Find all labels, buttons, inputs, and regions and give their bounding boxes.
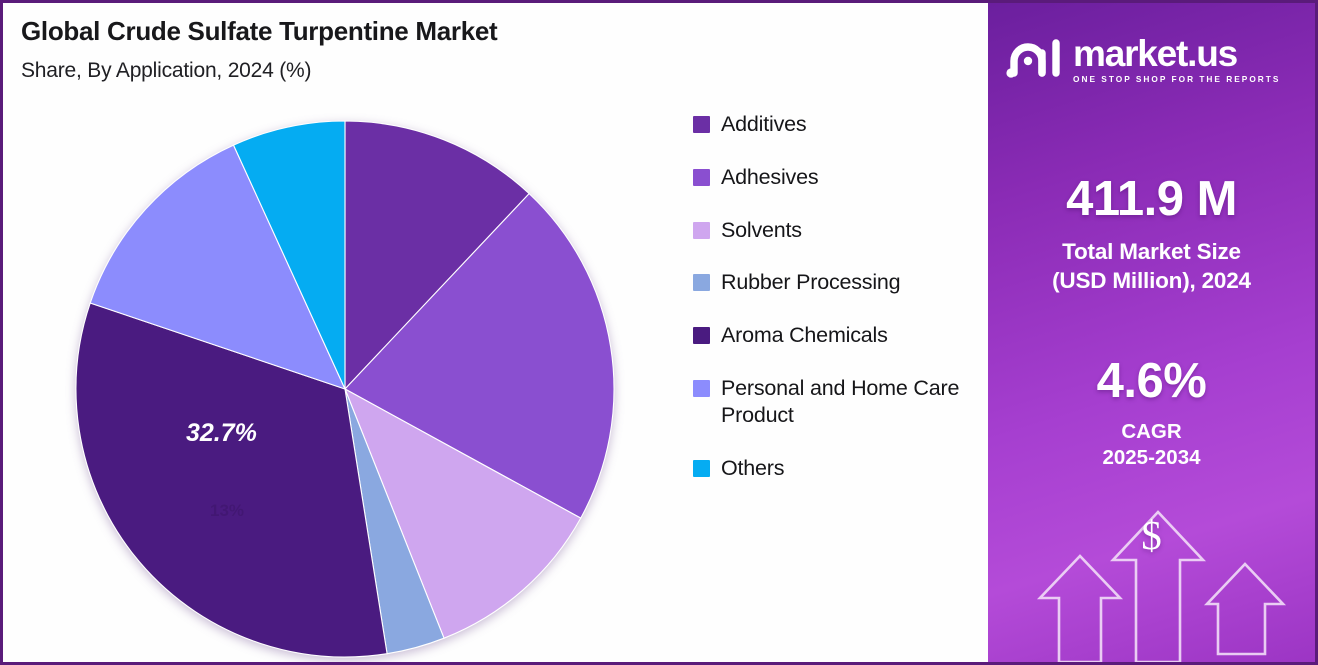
pie-slice-label-ghost: 13% (210, 501, 244, 520)
legend-item-label: Solvents (721, 217, 802, 244)
page-subtitle: Share, By Application, 2024 (%) (21, 59, 721, 83)
market-size-caption-line2: (USD Million), 2024 (988, 267, 1315, 296)
brand-wordmark: market.us (1073, 35, 1280, 72)
market-us-logo-icon (1004, 31, 1064, 88)
page-title: Global Crude Sulfate Turpentine Market (21, 17, 721, 47)
legend-item[interactable]: Others (693, 455, 985, 482)
pie-chart: 13% 32.7% (71, 116, 619, 662)
title-block: Global Crude Sulfate Turpentine Market S… (21, 17, 721, 83)
legend-item[interactable]: Aroma Chemicals (693, 322, 985, 349)
market-size-stat: 411.9 M Total Market Size (USD Million),… (988, 175, 1315, 296)
arrow-up-left-icon (1040, 556, 1120, 662)
legend-item[interactable]: Additives (693, 111, 985, 138)
legend-item-label: Rubber Processing (721, 269, 900, 296)
cagr-caption-line2: 2025-2034 (988, 445, 1315, 471)
legend-swatch-icon (693, 169, 710, 186)
legend-swatch-icon (693, 380, 710, 397)
pie-slices (76, 121, 614, 657)
legend-item-label: Adhesives (721, 164, 818, 191)
cagr-caption: CAGR 2025-2034 (988, 419, 1315, 471)
chart-legend: AdditivesAdhesivesSolventsRubber Process… (693, 111, 985, 508)
legend-item-label: Personal and Home Care Product (721, 375, 985, 430)
market-size-caption-line1: Total Market Size (988, 238, 1315, 267)
legend-swatch-icon (693, 222, 710, 239)
cagr-stat: 4.6% CAGR 2025-2034 (988, 357, 1315, 471)
chart-panel: Global Crude Sulfate Turpentine Market S… (3, 3, 991, 662)
legend-swatch-icon (693, 116, 710, 133)
market-size-value: 411.9 M (988, 175, 1315, 224)
legend-item[interactable]: Rubber Processing (693, 269, 985, 296)
legend-swatch-icon (693, 274, 710, 291)
legend-item[interactable]: Personal and Home Care Product (693, 375, 985, 430)
legend-swatch-icon (693, 460, 710, 477)
brand-panel: market.us ONE STOP SHOP FOR THE REPORTS … (988, 3, 1315, 662)
brand-logo-text: market.us ONE STOP SHOP FOR THE REPORTS (1073, 35, 1280, 83)
arrow-up-right-icon (1207, 564, 1283, 654)
brand-logo: market.us ONE STOP SHOP FOR THE REPORTS (1004, 31, 1299, 88)
legend-item-label: Additives (721, 111, 806, 138)
cagr-value: 4.6% (988, 357, 1315, 406)
infographic-root: Global Crude Sulfate Turpentine Market S… (0, 0, 1318, 665)
legend-item[interactable]: Adhesives (693, 164, 985, 191)
dollar-sign-icon: $ (988, 511, 1315, 559)
market-size-caption: Total Market Size (USD Million), 2024 (988, 238, 1315, 296)
pie-slice-label-aroma-chemicals: 32.7% (186, 419, 257, 447)
legend-item-label: Aroma Chemicals (721, 322, 888, 349)
cagr-caption-line1: CAGR (988, 419, 1315, 445)
legend-item-label: Others (721, 455, 784, 482)
pie-chart-svg: 13% 32.7% (71, 116, 619, 662)
brand-tagline: ONE STOP SHOP FOR THE REPORTS (1073, 75, 1280, 83)
legend-item[interactable]: Solvents (693, 217, 985, 244)
legend-swatch-icon (693, 327, 710, 344)
